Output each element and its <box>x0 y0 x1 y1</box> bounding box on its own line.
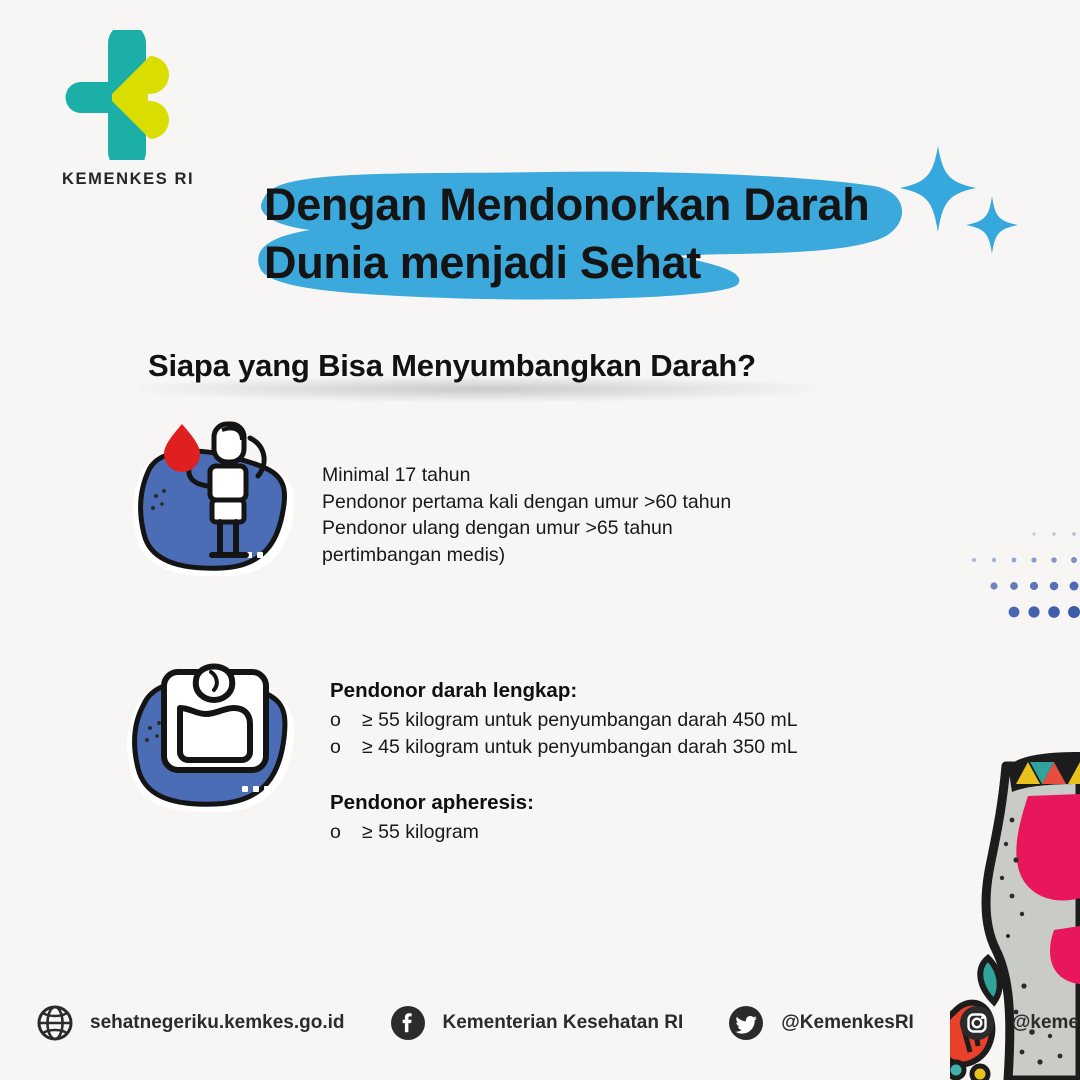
teal-leaf-icon <box>980 958 999 1002</box>
logo-text: KEMENKES RI <box>62 170 236 189</box>
title-line-2: Dunia menjadi Sehat <box>264 237 701 288</box>
footer-item-twitter[interactable]: @KemenkesRI <box>727 1004 914 1042</box>
bullet-text: ≥ 45 kilogram untuk penyumbangan darah 3… <box>362 734 798 762</box>
criteria-line: pertimbangan medis) <box>322 542 731 569</box>
sparkle-star-icon <box>896 140 1026 260</box>
instagram-icon <box>958 1004 996 1042</box>
section-question: Siapa yang Bisa Menyumbangkan Darah? <box>148 348 908 384</box>
footer-label-instagram: @kemenkes_ri <box>1012 1012 1080 1034</box>
gradient-dot-grid <box>958 520 1080 624</box>
bullet-item: o ≥ 55 kilogram untuk penyumbangan darah… <box>330 707 798 735</box>
group-heading: Pendonor apheresis: <box>330 788 798 819</box>
group-spacer <box>330 762 798 788</box>
bullet-marker: o <box>330 819 362 847</box>
criteria-line: Pendonor pertama kali dengan umur >60 ta… <box>322 489 731 516</box>
weight-criteria-text: Pendonor darah lengkap: o ≥ 55 kilogram … <box>330 676 798 847</box>
criteria-section-weight: Pendonor darah lengkap: o ≥ 55 kilogram … <box>110 650 798 847</box>
facebook-icon <box>389 1004 427 1042</box>
twitter-icon <box>727 1004 765 1042</box>
title-block: Dengan Mendonorkan DarahDunia menjadi Se… <box>246 160 946 310</box>
footer-item-website[interactable]: sehatnegeriku.kemkes.go.id <box>36 1004 345 1042</box>
footer-label-facebook: Kementerian Kesehatan RI <box>443 1012 684 1034</box>
weighing-scale-illustration <box>110 650 310 825</box>
bullet-text: ≥ 55 kilogram untuk penyumbangan darah 4… <box>362 707 798 735</box>
globe-icon <box>36 1004 74 1042</box>
age-criteria-text: Minimal 17 tahun Pendonor pertama kali d… <box>322 462 731 568</box>
footer-social-bar: sehatnegeriku.kemkes.go.id Kementerian K… <box>36 1004 1046 1042</box>
title-line-1: Dengan Mendonorkan Darah <box>264 179 869 230</box>
criteria-line: Pendonor ulang dengan umur >65 tahun <box>322 515 731 542</box>
bullet-text: ≥ 55 kilogram <box>362 819 479 847</box>
blood-drop-icon <box>164 424 200 472</box>
person-blood-drop-illustration <box>118 418 308 588</box>
bullet-marker: o <box>330 707 362 735</box>
criteria-section-age: Minimal 17 tahun Pendonor pertama kali d… <box>118 418 731 588</box>
kemenkes-flower-logo <box>64 30 189 160</box>
kemenkes-logo: KEMENKES RI <box>56 30 236 189</box>
bullet-item: o ≥ 55 kilogram <box>330 819 798 847</box>
bullet-item: o ≥ 45 kilogram untuk penyumbangan darah… <box>330 734 798 762</box>
bullet-marker: o <box>330 734 362 762</box>
footer-label-website: sehatnegeriku.kemkes.go.id <box>90 1012 345 1034</box>
subtitle-block: Siapa yang Bisa Menyumbangkan Darah? <box>148 348 908 384</box>
footer-item-instagram[interactable]: @kemenkes_ri <box>958 1004 1080 1042</box>
footer-item-facebook[interactable]: Kementerian Kesehatan RI <box>389 1004 684 1042</box>
page-title: Dengan Mendonorkan DarahDunia menjadi Se… <box>264 176 924 291</box>
criteria-line: Minimal 17 tahun <box>322 462 731 489</box>
group-heading: Pendonor darah lengkap: <box>330 676 798 707</box>
poster-canvas: KEMENKES RI Dengan Mendonorkan DarahDuni… <box>0 0 1080 1080</box>
footer-label-twitter: @KemenkesRI <box>781 1012 914 1034</box>
